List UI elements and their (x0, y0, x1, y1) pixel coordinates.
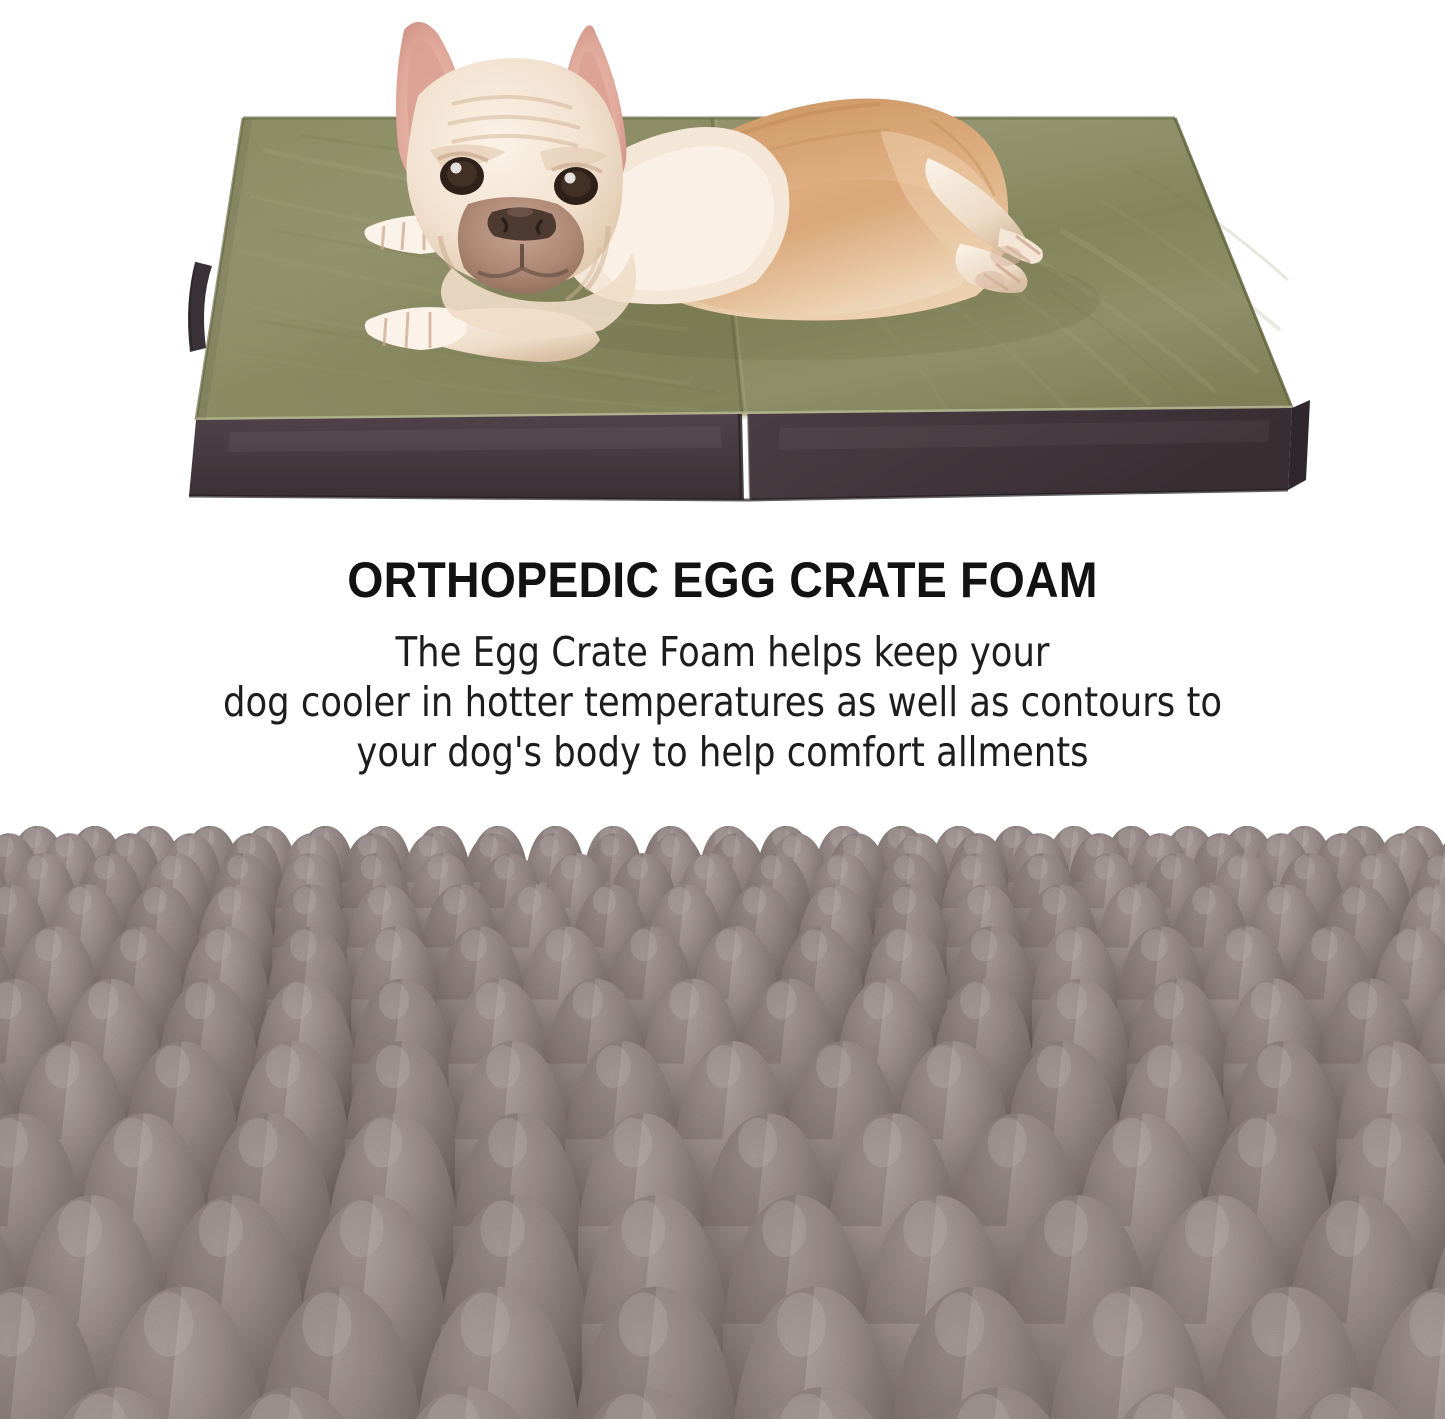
dog-bed-illustration (0, 0, 1445, 530)
foam-cone-highlight (694, 855, 715, 879)
foam-cone-highlight (1311, 929, 1338, 961)
foam-cone-highlight (460, 1292, 509, 1356)
foam-cone-highlight (486, 1045, 520, 1088)
foam-cone-highlight (816, 1045, 850, 1088)
foam-cone-highlight (761, 855, 782, 879)
dog-head (396, 22, 636, 338)
egg-crate-foam-photo (0, 826, 1445, 1419)
foam-cone-highlight (903, 1200, 947, 1257)
foam-cone-highlight (218, 887, 241, 915)
foam-cone-highlight (58, 1200, 102, 1257)
foam-cone-highlight (45, 1045, 79, 1088)
foam-cone-highlight (1027, 855, 1048, 879)
foam-cone-highlight (1206, 835, 1225, 857)
foam-cone-highlight (1146, 835, 1165, 857)
foam-cone-highlight (631, 929, 658, 961)
foam-cone-highlight (935, 1292, 984, 1356)
foam-cone-highlight (596, 1045, 630, 1088)
foam-cone-highlight (1043, 887, 1066, 915)
foam-cone-highlight (1267, 835, 1286, 857)
foam-cone-highlight (960, 982, 990, 1019)
foam-cone-highlight (1094, 855, 1115, 879)
foam-cone-highlight (894, 855, 915, 879)
foam-cone-highlight (762, 1200, 806, 1257)
foam-cone-highlight (1294, 855, 1315, 879)
foam-cone-highlight (1003, 828, 1021, 848)
copy-block: ORTHOPEDIC EGG CRATE FOAM The Egg Crate … (0, 528, 1445, 828)
foam-cone-highlight (1328, 835, 1347, 857)
foam-cone-highlight (488, 1118, 527, 1168)
foam-cone-highlight (266, 1045, 300, 1088)
foam-cone-highlight (155, 1045, 189, 1088)
body-copy-line-1: The Egg Crate Foam helps keep your (29, 627, 1416, 677)
foam-cone-highlight (114, 1118, 153, 1168)
foam-cone-highlight (116, 835, 135, 857)
foam-cone-highlight (1085, 835, 1104, 857)
foam-cone-highlight (968, 887, 991, 915)
foam-cone-highlight (971, 929, 998, 961)
foam-cone-highlight (893, 887, 916, 915)
foam-cone-highlight (120, 929, 147, 961)
foam-cone-highlight (55, 835, 74, 857)
foam-cone-highlight (479, 835, 498, 857)
foam-cone-highlight (361, 855, 382, 879)
foam-cone-highlight (818, 887, 841, 915)
foam-cone-highlight (282, 982, 312, 1019)
foam-cone-highlight (1056, 929, 1083, 961)
foam-cone-highlight (801, 929, 828, 961)
foam-cone-highlight (1154, 982, 1184, 1019)
foam-cone-highlight (743, 887, 766, 915)
foam-cone-highlight (600, 835, 619, 857)
foam-cone-highlight (494, 855, 515, 879)
foam-cone-highlight (777, 1292, 826, 1356)
foam-cone-highlight (375, 929, 402, 961)
foam-cone-highlight (481, 1200, 525, 1257)
foam-cone-highlight (863, 1118, 902, 1168)
foam-cone-highlight (573, 982, 603, 1019)
foam-cone-highlight (1113, 1118, 1152, 1168)
foam-cone-highlight (302, 1292, 351, 1356)
foam-cone-highlight (379, 982, 409, 1019)
foam-cone-highlight (1192, 887, 1215, 915)
body-copy: The Egg Crate Foam helps keep your dog c… (29, 605, 1416, 777)
foam-cone-highlight (205, 929, 232, 961)
foam-cone-highlight (1093, 1292, 1142, 1356)
foam-cone-highlight (782, 835, 801, 857)
page-title: ORTHOPEDIC EGG CRATE FOAM (51, 528, 1395, 605)
foam-cone-highlight (1396, 929, 1423, 961)
body-copy-line-2: dog cooler in hotter temperatures as wel… (29, 677, 1416, 727)
foam-cone-highlight (294, 855, 315, 879)
foam-cone-highlight (1161, 855, 1182, 879)
foam-cone-highlight (1257, 1045, 1291, 1088)
foam-cone-highlight (518, 887, 541, 915)
foam-cone-highlight (1362, 1118, 1401, 1168)
foam-cone-highlight (1251, 1292, 1300, 1356)
foam-cone-highlight (621, 1200, 665, 1257)
foam-cone-highlight (627, 855, 648, 879)
foam-cone-highlight (1326, 1200, 1370, 1257)
foam-cone-highlight (613, 1118, 652, 1168)
foam-cone-highlight (185, 982, 215, 1019)
foam-cone-highlight (1227, 855, 1248, 879)
foam-cone-highlight (368, 887, 391, 915)
foam-cone-highlight (1117, 887, 1140, 915)
hero-product-photo (0, 0, 1445, 530)
foam-cone-highlight (738, 1118, 777, 1168)
foam-cone-highlight (161, 855, 182, 879)
foam-cone-highlight (1037, 1045, 1071, 1088)
foam-cone-highlight (143, 887, 166, 915)
foam-cone-highlight (290, 929, 317, 961)
foam-cone-highlight (927, 1045, 961, 1088)
foam-cone-highlight (68, 887, 91, 915)
foam-cone-highlight (1060, 828, 1078, 848)
foam-cone-highlight (593, 887, 616, 915)
foam-cone-highlight (1267, 887, 1290, 915)
foam-cone-highlight (35, 929, 62, 961)
foam-cone-highlight (460, 929, 487, 961)
foam-cone-highlight (1226, 929, 1253, 961)
foam-cone-highlight (144, 1292, 193, 1356)
foam-cone-highlight (1388, 835, 1407, 857)
foam-cone-highlight (419, 835, 438, 857)
foam-cone-highlight (827, 855, 848, 879)
foam-cone-highlight (1118, 828, 1136, 848)
foam-cone-highlight (88, 982, 118, 1019)
foam-cone-highlight (94, 855, 115, 879)
foam-cone-highlight (1185, 1200, 1229, 1257)
foam-cone-highlight (668, 887, 691, 915)
foam-cone-highlight (27, 855, 48, 879)
foam-cone-highlight (1348, 982, 1378, 1019)
foam-cone-highlight (427, 855, 448, 879)
egg-crate-foam-svg (0, 826, 1445, 1419)
foam-cone-highlight (706, 1045, 740, 1088)
foam-cone-highlight (661, 835, 680, 857)
foam-cone-highlight (1141, 929, 1168, 961)
foam-cone-highlight (363, 1118, 402, 1168)
foam-cone-highlight (340, 1200, 384, 1257)
foam-cone-highlight (293, 887, 316, 915)
foam-cone-highlight (227, 855, 248, 879)
foam-cone-highlight (1417, 887, 1440, 915)
foam-cone-field (0, 826, 1445, 1419)
foam-cone-highlight (1238, 1118, 1277, 1168)
foam-cone-highlight (716, 929, 743, 961)
foam-cone-highlight (476, 982, 506, 1019)
foam-cone-highlight (722, 835, 741, 857)
foam-cone-highlight (376, 1045, 410, 1088)
foam-cone-highlight (1361, 855, 1382, 879)
foam-cone-highlight (961, 855, 982, 879)
foam-cone-highlight (1147, 1045, 1181, 1088)
foam-cone-highlight (766, 982, 796, 1019)
foam-cone-highlight (1251, 982, 1281, 1019)
french-bulldog-illustration (0, 0, 1445, 530)
foam-cone-highlight (561, 855, 582, 879)
foam-cone-highlight (1057, 982, 1087, 1019)
foam-cone-highlight (1342, 887, 1365, 915)
foam-cone-highlight (886, 929, 913, 961)
foam-cone-highlight (239, 1118, 278, 1168)
foam-cone-highlight (669, 982, 699, 1019)
foam-cone-highlight (443, 887, 466, 915)
foam-cone-highlight (540, 835, 559, 857)
foam-cone-highlight (199, 1200, 243, 1257)
foam-cone-highlight (619, 1292, 668, 1356)
product-infographic-page: ORTHOPEDIC EGG CRATE FOAM The Egg Crate … (0, 0, 1445, 1419)
foam-cone-highlight (1044, 1200, 1088, 1257)
foam-cone-highlight (988, 1118, 1027, 1168)
foam-cone-highlight (1367, 1045, 1401, 1088)
foam-cone-highlight (545, 929, 572, 961)
foam-cone-highlight (863, 982, 893, 1019)
body-copy-line-3: your dog's body to help comfort allments (29, 727, 1416, 777)
